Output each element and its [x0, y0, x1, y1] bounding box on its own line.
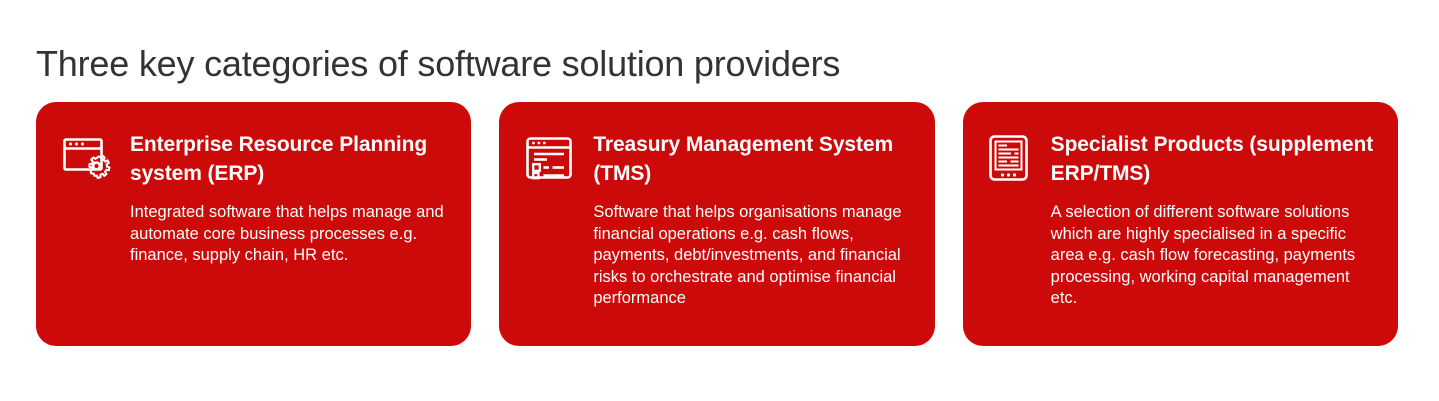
- card-title: Enterprise Resource Planning system (ERP…: [130, 130, 447, 188]
- card-title: Specialist Products (supplement ERP/TMS): [1051, 130, 1374, 188]
- browser-window-gear-icon: [60, 132, 112, 184]
- card-description: A selection of different software soluti…: [1051, 202, 1374, 310]
- category-card-tms: Treasury Management System (TMS) Softwar…: [499, 102, 934, 346]
- category-card-specialist: Specialist Products (supplement ERP/TMS)…: [963, 102, 1398, 346]
- page-title: Three key categories of software solutio…: [36, 43, 840, 85]
- card-title: Treasury Management System (TMS): [593, 130, 910, 188]
- browser-window-form-icon: [523, 132, 575, 184]
- card-description: Integrated software that helps manage an…: [130, 202, 447, 267]
- category-card-group: Enterprise Resource Planning system (ERP…: [36, 102, 1398, 346]
- card-header: Treasury Management System (TMS): [523, 130, 910, 188]
- tablet-document-icon: [987, 132, 1033, 184]
- card-header: Specialist Products (supplement ERP/TMS): [987, 130, 1374, 188]
- category-card-erp: Enterprise Resource Planning system (ERP…: [36, 102, 471, 346]
- card-header: Enterprise Resource Planning system (ERP…: [60, 130, 447, 188]
- card-description: Software that helps organisations manage…: [593, 202, 910, 310]
